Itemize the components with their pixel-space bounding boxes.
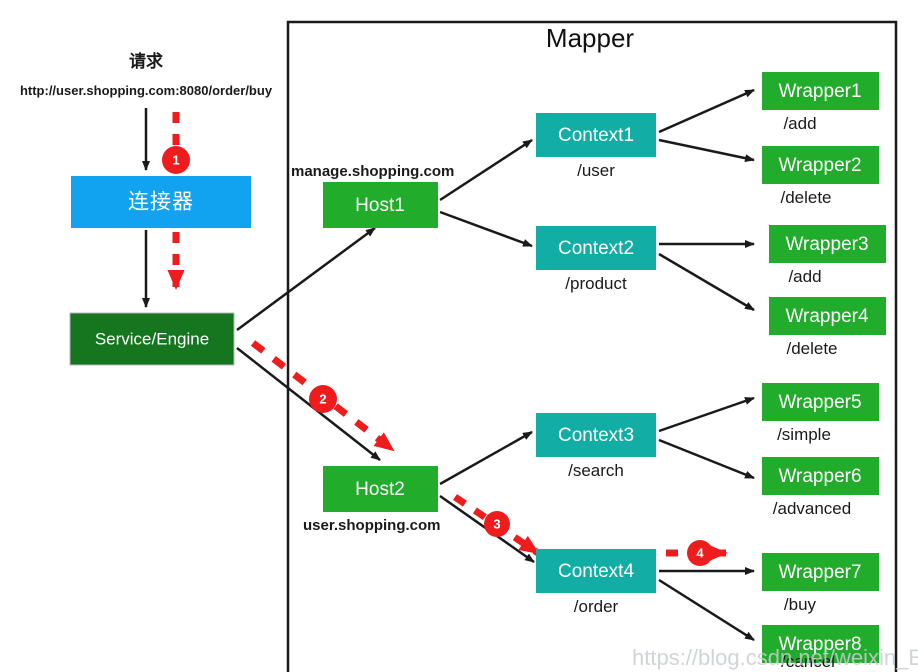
request-url: http://user.shopping.com:8080/order/buy — [20, 83, 273, 98]
mapper-title: Mapper — [546, 23, 634, 53]
step-marker-3-label: 3 — [493, 516, 500, 531]
node-context1-label: Context1 — [558, 125, 634, 146]
node-context3-path: /search — [568, 461, 624, 480]
node-wrapper5-path: /simple — [777, 425, 831, 444]
node-host2-label: Host2 — [355, 479, 405, 500]
node-wrapper2-path: /delete — [780, 188, 831, 207]
request-label: 请求 — [129, 51, 163, 71]
node-wrapper4-label: Wrapper4 — [785, 306, 869, 327]
node-context2-path: /product — [565, 274, 627, 293]
node-wrapper7-path: /buy — [784, 595, 817, 614]
node-context1-path: /user — [577, 161, 615, 180]
node-wrapper7-label: Wrapper7 — [778, 562, 861, 583]
node-wrapper1-label: Wrapper1 — [778, 81, 861, 102]
node-connector-label: 连接器 — [128, 191, 194, 214]
node-wrapper6-label: Wrapper6 — [778, 466, 861, 487]
node-wrapper6-path: /advanced — [773, 499, 851, 518]
step-marker-4-label: 4 — [696, 545, 704, 560]
node-context4-label: Context4 — [558, 561, 634, 582]
node-context2-label: Context2 — [558, 238, 634, 259]
node-wrapper3-label: Wrapper3 — [785, 234, 868, 255]
node-context4-path: /order — [574, 597, 619, 616]
node-host1-label: Host1 — [355, 195, 405, 216]
architecture-diagram: Mapper 请求 http://user.shopping.com:8080/… — [0, 0, 918, 672]
node-wrapper4-path: /delete — [786, 339, 837, 358]
node-engine-label: Service/Engine — [95, 329, 209, 348]
node-wrapper5-label: Wrapper5 — [778, 392, 861, 413]
step-marker-2-label: 2 — [319, 391, 326, 406]
node-wrapper3-path: /add — [788, 267, 821, 286]
step-marker-1-label: 1 — [172, 152, 179, 167]
node-context3-label: Context3 — [558, 425, 634, 446]
node-wrapper2-label: Wrapper2 — [778, 155, 861, 176]
node-wrapper1-path: /add — [783, 114, 816, 133]
node-host1-caption: manage.shopping.com — [291, 163, 454, 180]
node-host2-caption: user.shopping.com — [303, 517, 441, 534]
watermark: https://blog.csdn.net/weixin_Eeynrng — [632, 645, 918, 670]
